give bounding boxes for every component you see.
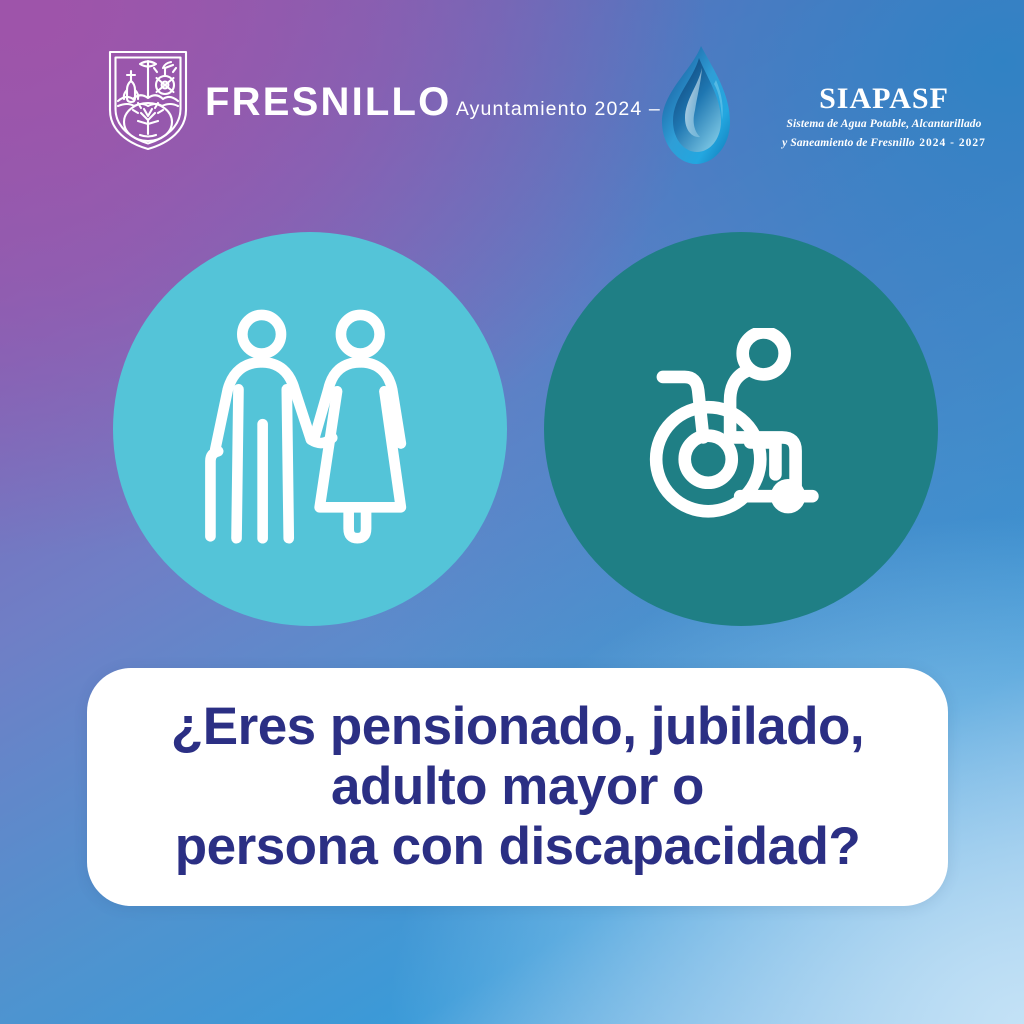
- elderly-couple-badge: [113, 232, 507, 626]
- siapasf-years: 2024 - 2027: [919, 137, 986, 149]
- banner-line-1: ¿Eres pensionado, jubilado,: [113, 697, 922, 757]
- banner-message: ¿Eres pensionado, jubilado, adulto mayor…: [87, 697, 948, 877]
- message-banner: ¿Eres pensionado, jubilado, adulto mayor…: [87, 668, 948, 906]
- icon-circles-row: [0, 232, 1024, 632]
- header-logos: FRESNILLO Ayuntamiento 2024 – 2027: [0, 0, 1024, 195]
- siapasf-subtitle-line-2: y Saneamiento de Fresnillo: [782, 137, 915, 149]
- wheelchair-icon: [636, 328, 846, 530]
- fresnillo-wordmark: FRESNILLO Ayuntamiento 2024 – 2027: [205, 78, 715, 122]
- elderly-couple-icon: [194, 308, 426, 550]
- poster-canvas: FRESNILLO Ayuntamiento 2024 – 2027: [0, 0, 1024, 1024]
- fresnillo-coat-of-arms-shield-icon: [107, 48, 189, 152]
- banner-line-2: adulto mayor o: [113, 757, 922, 817]
- banner-line-3: persona con discapacidad?: [113, 817, 922, 877]
- fresnillo-title: FRESNILLO: [205, 80, 451, 124]
- water-droplet-icon: [652, 42, 734, 170]
- fresnillo-logo: FRESNILLO Ayuntamiento 2024 – 2027: [107, 48, 715, 152]
- wheelchair-badge: [544, 232, 938, 626]
- siapasf-title: SIAPASF: [819, 82, 949, 115]
- siapasf-subtitle-line-1: Sistema de Agua Potable, Alcantarillado: [786, 118, 981, 130]
- siapasf-wordmark: SIAPASF Sistema de Agua Potable, Alcanta…: [744, 60, 1024, 152]
- siapasf-logo: SIAPASF Sistema de Agua Potable, Alcanta…: [652, 42, 1024, 170]
